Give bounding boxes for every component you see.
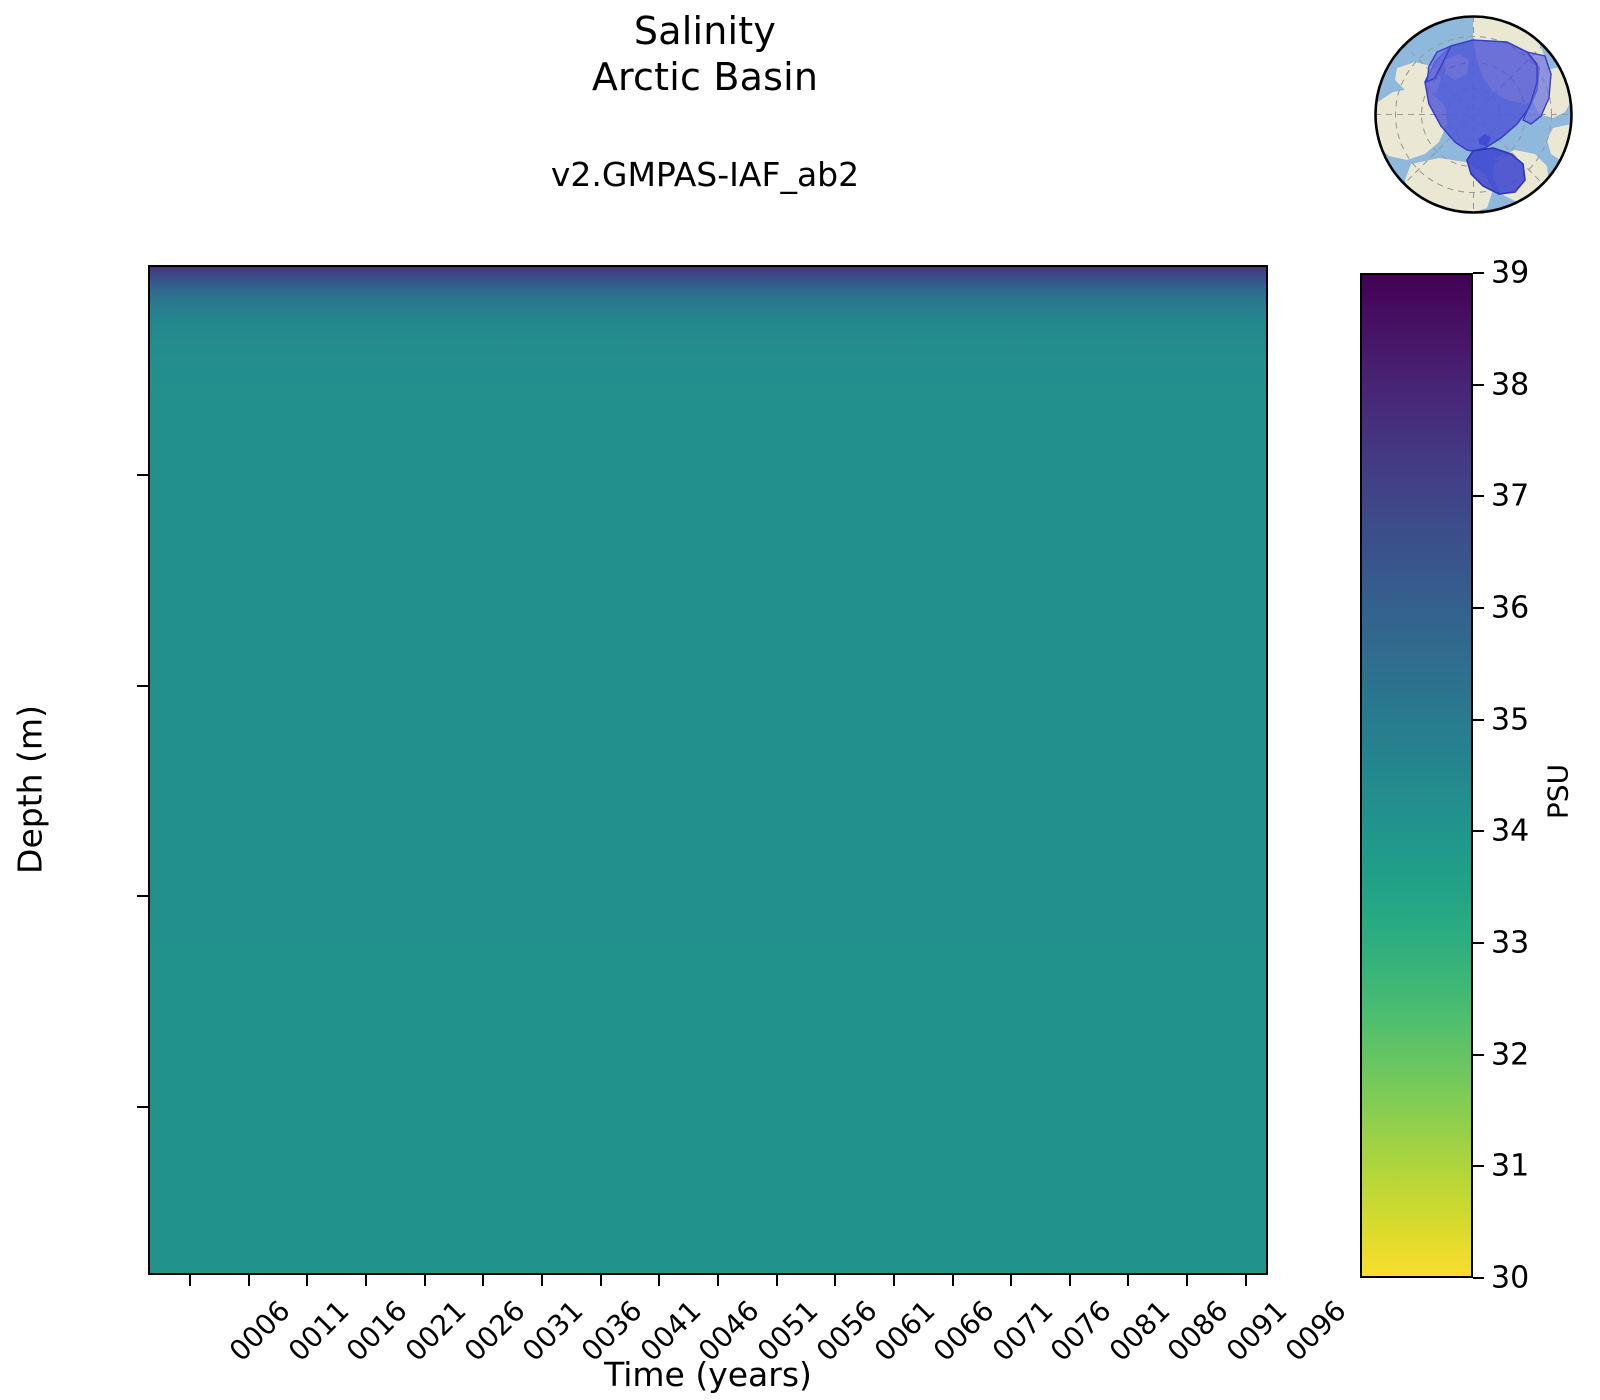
x-axis-tick-mark — [424, 1275, 426, 1286]
colorbar-tick-label: 33 — [1491, 926, 1529, 961]
colorbar-tick-label: 35 — [1491, 702, 1529, 737]
colorbar-tick-mark — [1473, 272, 1484, 274]
x-axis-tick-mark — [1069, 1275, 1071, 1286]
y-axis-tick-mark — [137, 1106, 148, 1108]
colorbar-tick-mark — [1473, 719, 1484, 721]
x-axis-tick-label: 0096 — [1279, 1294, 1353, 1368]
colorbar-tick-mark — [1473, 495, 1484, 497]
x-axis-tick-mark — [1010, 1275, 1012, 1286]
x-axis-tick-mark — [658, 1275, 660, 1286]
y-axis-tick-mark — [137, 474, 148, 476]
x-axis-tick-mark — [306, 1275, 308, 1286]
heatmap-field — [150, 267, 1266, 1273]
colorbar-tick-label: 34 — [1491, 814, 1529, 849]
salinity-depth-time-heatmap — [148, 265, 1268, 1275]
chart-subtitle-run-name: v2.GMPAS-IAF_ab2 — [0, 155, 1410, 194]
colorbar-tick-label: 38 — [1491, 367, 1529, 402]
x-axis-tick-mark — [482, 1275, 484, 1286]
x-axis-tick-mark — [776, 1275, 778, 1286]
x-axis-tick-mark — [541, 1275, 543, 1286]
arctic-map-svg — [1367, 8, 1580, 221]
y-axis-tick-mark — [137, 685, 148, 687]
colorbar-tick-label: 30 — [1491, 1261, 1529, 1296]
x-axis-tick-mark — [1186, 1275, 1188, 1286]
x-axis-tick-mark — [893, 1275, 895, 1286]
colorbar-tick-mark — [1473, 384, 1484, 386]
title-line-region: Arctic Basin — [0, 54, 1410, 100]
y-axis-tick-mark — [137, 895, 148, 897]
x-axis-tick-mark — [1245, 1275, 1247, 1286]
colorbar-tick-mark — [1473, 942, 1484, 944]
colorbar-tick-label: 39 — [1491, 256, 1529, 291]
colorbar — [1360, 273, 1473, 1278]
colorbar-tick-label: 32 — [1491, 1037, 1529, 1072]
x-axis-tick-mark — [365, 1275, 367, 1286]
colorbar-tick-label: 36 — [1491, 591, 1529, 626]
x-axis-tick-mark — [717, 1275, 719, 1286]
colorbar-tick-mark — [1473, 607, 1484, 609]
colorbar-gradient — [1362, 275, 1471, 1276]
colorbar-tick-mark — [1473, 1277, 1484, 1279]
x-axis-tick-mark — [189, 1275, 191, 1286]
x-axis-tick-mark — [1127, 1275, 1129, 1286]
colorbar-tick-mark — [1473, 1054, 1484, 1056]
colorbar-tick-mark — [1473, 1165, 1484, 1167]
colorbar-tick-label: 37 — [1491, 479, 1529, 514]
y-axis-label: Depth (m) — [11, 640, 50, 940]
colorbar-label: PSU — [1542, 682, 1575, 902]
x-axis-tick-mark — [248, 1275, 250, 1286]
chart-title-block: Salinity Arctic Basin — [0, 8, 1410, 100]
x-axis-tick-mark — [952, 1275, 954, 1286]
colorbar-tick-mark — [1473, 830, 1484, 832]
arctic-region-map-inset — [1367, 8, 1580, 221]
x-axis-tick-mark — [600, 1275, 602, 1286]
colorbar-tick-label: 31 — [1491, 1149, 1529, 1184]
title-line-variable: Salinity — [0, 8, 1410, 54]
x-axis-tick-mark — [834, 1275, 836, 1286]
